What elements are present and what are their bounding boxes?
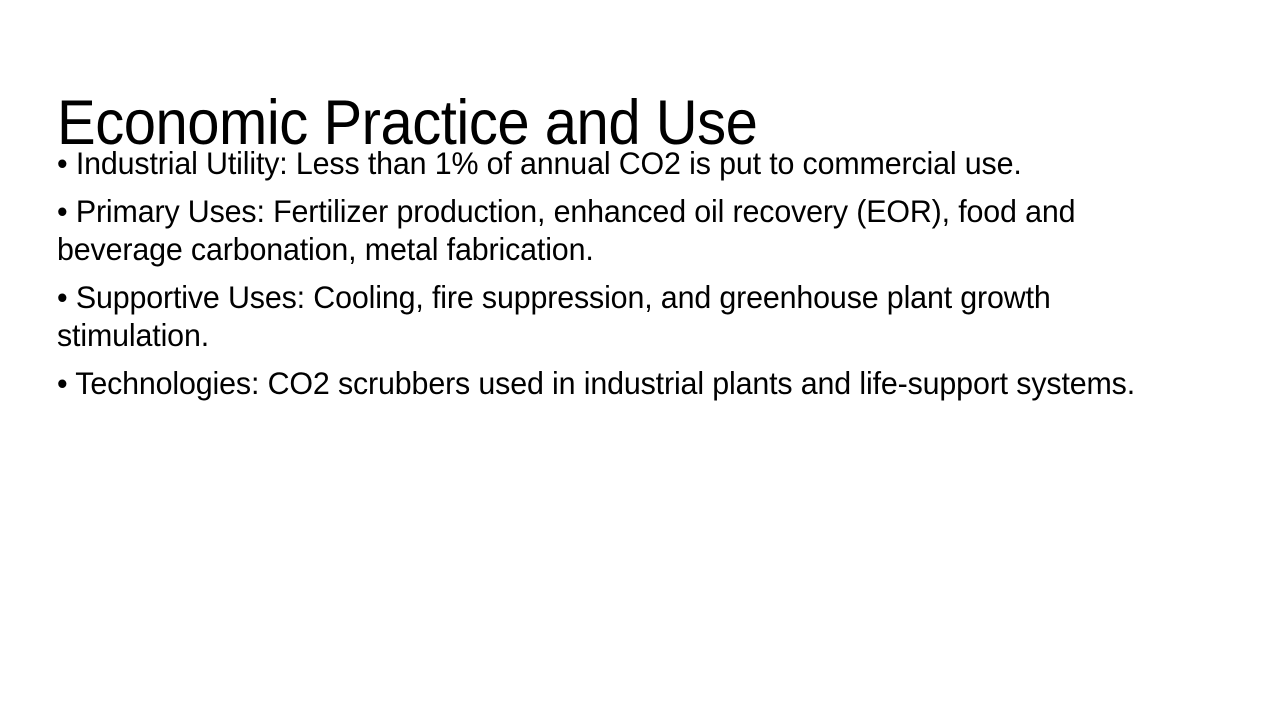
bullet-list-item: • Supportive Uses: Cooling, fire suppres… (57, 278, 1174, 355)
bullet-item-text: Industrial Utility: Less than 1% of annu… (76, 145, 1022, 181)
bullet-item-text: Technologies: CO2 scrubbers used in indu… (75, 365, 1135, 401)
bullet-item-text: Primary Uses: Fertilizer production, enh… (57, 193, 1075, 268)
presentation-slide: Economic Practice and Use • Industrial U… (0, 0, 1280, 720)
slide-body-list: • Industrial Utility: Less than 1% of an… (57, 144, 1215, 402)
bullet-point-icon: • (57, 365, 68, 401)
bullet-list-item: • Primary Uses: Fertilizer production, e… (57, 192, 1174, 269)
bullet-point-icon: • (57, 279, 68, 315)
bullet-point-icon: • (57, 193, 68, 229)
bullet-point-icon: • (57, 145, 68, 181)
bullet-item-text: Supportive Uses: Cooling, fire suppressi… (57, 279, 1051, 354)
bullet-list-item: • Technologies: CO2 scrubbers used in in… (57, 364, 1174, 403)
bullet-list-item: • Industrial Utility: Less than 1% of an… (57, 144, 1174, 183)
